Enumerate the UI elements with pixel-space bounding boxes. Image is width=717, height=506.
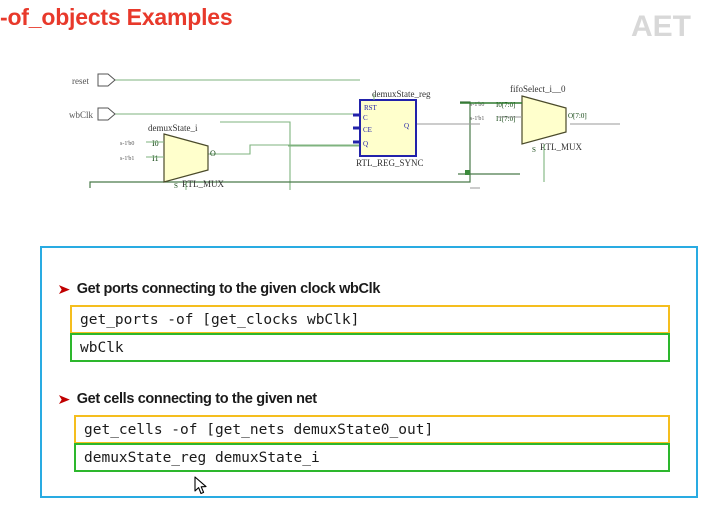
svg-text:I1[7:0]: I1[7:0] [496,115,515,123]
examples-panel: ➤ Get ports connecting to the given cloc… [40,246,698,498]
svg-text:demuxState_i: demuxState_i [148,123,198,133]
bullet-label-2: Get cells connecting to the given net [77,391,317,407]
svg-text:Q: Q [404,122,409,130]
rtl-schematic-diagram: reset wbClk demuxState_i s-1'b0 s-1'b1 I… [60,62,660,192]
svg-text:RTL_MUX: RTL_MUX [540,142,582,152]
svg-text:I0: I0 [152,139,159,148]
svg-text:Q: Q [363,140,368,148]
arrow-bullet-icon: ➤ [57,392,70,406]
svg-text:fifoSelect_i__0: fifoSelect_i__0 [510,84,566,94]
output-text-1: wbClk [80,340,124,356]
cell-demuxstate-reg: demuxState_reg RST C CE Q Q RTL_REG_SYNC [353,89,431,168]
svg-text:I1: I1 [152,154,159,163]
bullet-label-1: Get ports connecting to the given clock … [77,281,380,297]
net-junction-dot [465,170,470,175]
company-logo-watermark: AET [631,10,717,44]
svg-text:O: O [210,149,216,158]
svg-text:O[7:0]: O[7:0] [568,112,587,120]
command-box-2[interactable]: get_cells -of [get_nets demuxState0_out] [74,415,670,444]
svg-text:CE: CE [363,126,372,134]
page-title: -of_objects Examples [0,4,232,31]
output-box-2: demuxState_reg demuxState_i [74,443,670,472]
bullet-item-2: ➤ Get cells connecting to the given net [58,391,317,407]
bullet-item-1: ➤ Get ports connecting to the given cloc… [58,281,380,297]
arrow-bullet-icon: ➤ [57,282,70,296]
output-box-1: wbClk [70,333,670,362]
svg-text:demuxState_reg: demuxState_reg [372,89,431,99]
svg-text:RST: RST [364,104,378,112]
cell-demuxstate-i: demuxState_i s-1'b0 s-1'b1 I0 I1 O S RTL… [120,123,224,190]
svg-text:S: S [174,182,178,190]
port-wbclk: wbClk [69,108,115,120]
svg-text:C: C [363,114,368,122]
port-reset: reset [72,74,115,86]
svg-text:reset: reset [72,76,89,86]
svg-text:RTL_MUX: RTL_MUX [182,179,224,189]
command-box-1[interactable]: get_ports -of [get_clocks wbClk] [70,305,670,334]
cell-fifoselect-i-0: fifoSelect_i__0 s-1'b0 s-1'b1 I0[7:0] I1… [460,84,587,182]
svg-text:s-1'b0: s-1'b0 [120,141,134,147]
output-text-2: demuxState_reg demuxState_i [84,450,320,466]
svg-text:I0[7:0]: I0[7:0] [496,101,515,109]
svg-text:s-1'b1: s-1'b1 [120,156,134,162]
svg-text:s-1'b1: s-1'b1 [470,116,484,122]
command-text-1: get_ports -of [get_clocks wbClk] [80,312,359,328]
svg-text:S: S [532,146,536,154]
svg-text:RTL_REG_SYNC: RTL_REG_SYNC [356,158,423,168]
command-text-2: get_cells -of [get_nets demuxState0_out] [84,422,433,438]
svg-text:wbClk: wbClk [69,110,94,120]
